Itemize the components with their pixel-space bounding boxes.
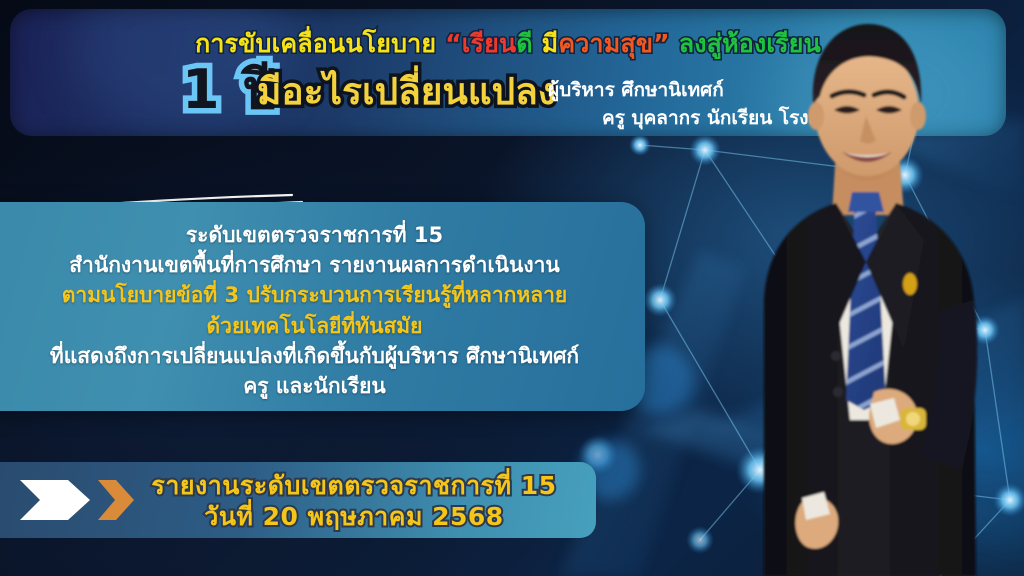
chevron-white-icon [20, 480, 90, 520]
footer-line-2: วันที่ 20 พฤษภาคม 2568 [134, 501, 574, 532]
ear-left [808, 102, 824, 130]
footer-bar: รายงานระดับเขตตรวจราชการที่ 15 วันที่ 20… [0, 462, 596, 538]
title-seg-0: การขับเคลื่อนนโยบาย [195, 29, 445, 58]
tie-knot [848, 192, 884, 212]
portrait-photo [724, 0, 1024, 576]
content-text-block: ระดับเขตตรวจราชการที่ 15 สำนักงานเขตพื้น… [0, 220, 629, 401]
audience-line-1: ผู้บริหาร ศึกษานิเทศก์ [548, 79, 724, 101]
title-seg-4: ความสุข” [558, 29, 678, 58]
footer-line-1: รายงานระดับเขตตรวจราชการที่ 15 [134, 470, 574, 501]
lapel-pin-icon [903, 273, 917, 295]
title-seg-2: ดี [516, 29, 541, 58]
content-line-2: สำนักงานเขตพื้นที่การศึกษา รายงานผลการดำ… [0, 250, 629, 280]
title-seg-3: มี [542, 29, 559, 58]
double-chevron-icon [16, 476, 136, 524]
content-panel: ระดับเขตตรวจราชการที่ 15 สำนักงานเขตพื้น… [0, 202, 645, 411]
suit-button-2 [833, 387, 843, 397]
content-line-5: ที่แสดงถึงการเปลี่ยนแปลงที่เกิดขึ้นกับผู… [0, 341, 629, 371]
content-line-3: ตามนโยบายข้อที่ 3 ปรับกระบวนการเรียนรู้ท… [0, 280, 629, 310]
content-line-6: ครู และนักเรียน [0, 371, 629, 401]
big-change-label: มีอะไรเปลี่ยนแปลง [257, 73, 556, 110]
slide-canvas: การขับเคลื่อนนโยบาย “เรียนดี มีความสุข” … [0, 0, 1024, 576]
content-line-1: ระดับเขตตรวจราชการที่ 15 [0, 220, 629, 250]
content-line-4: ด้วยเทคโนโลยีที่ทันสมัย [0, 311, 629, 341]
chevron-orange-icon [98, 480, 134, 520]
ear-right [910, 102, 926, 130]
title-seg-1: “เรียน [445, 29, 516, 58]
suit-button-1 [831, 351, 841, 361]
footer-text-block: รายงานระดับเขตตรวจราชการที่ 15 วันที่ 20… [134, 470, 574, 533]
